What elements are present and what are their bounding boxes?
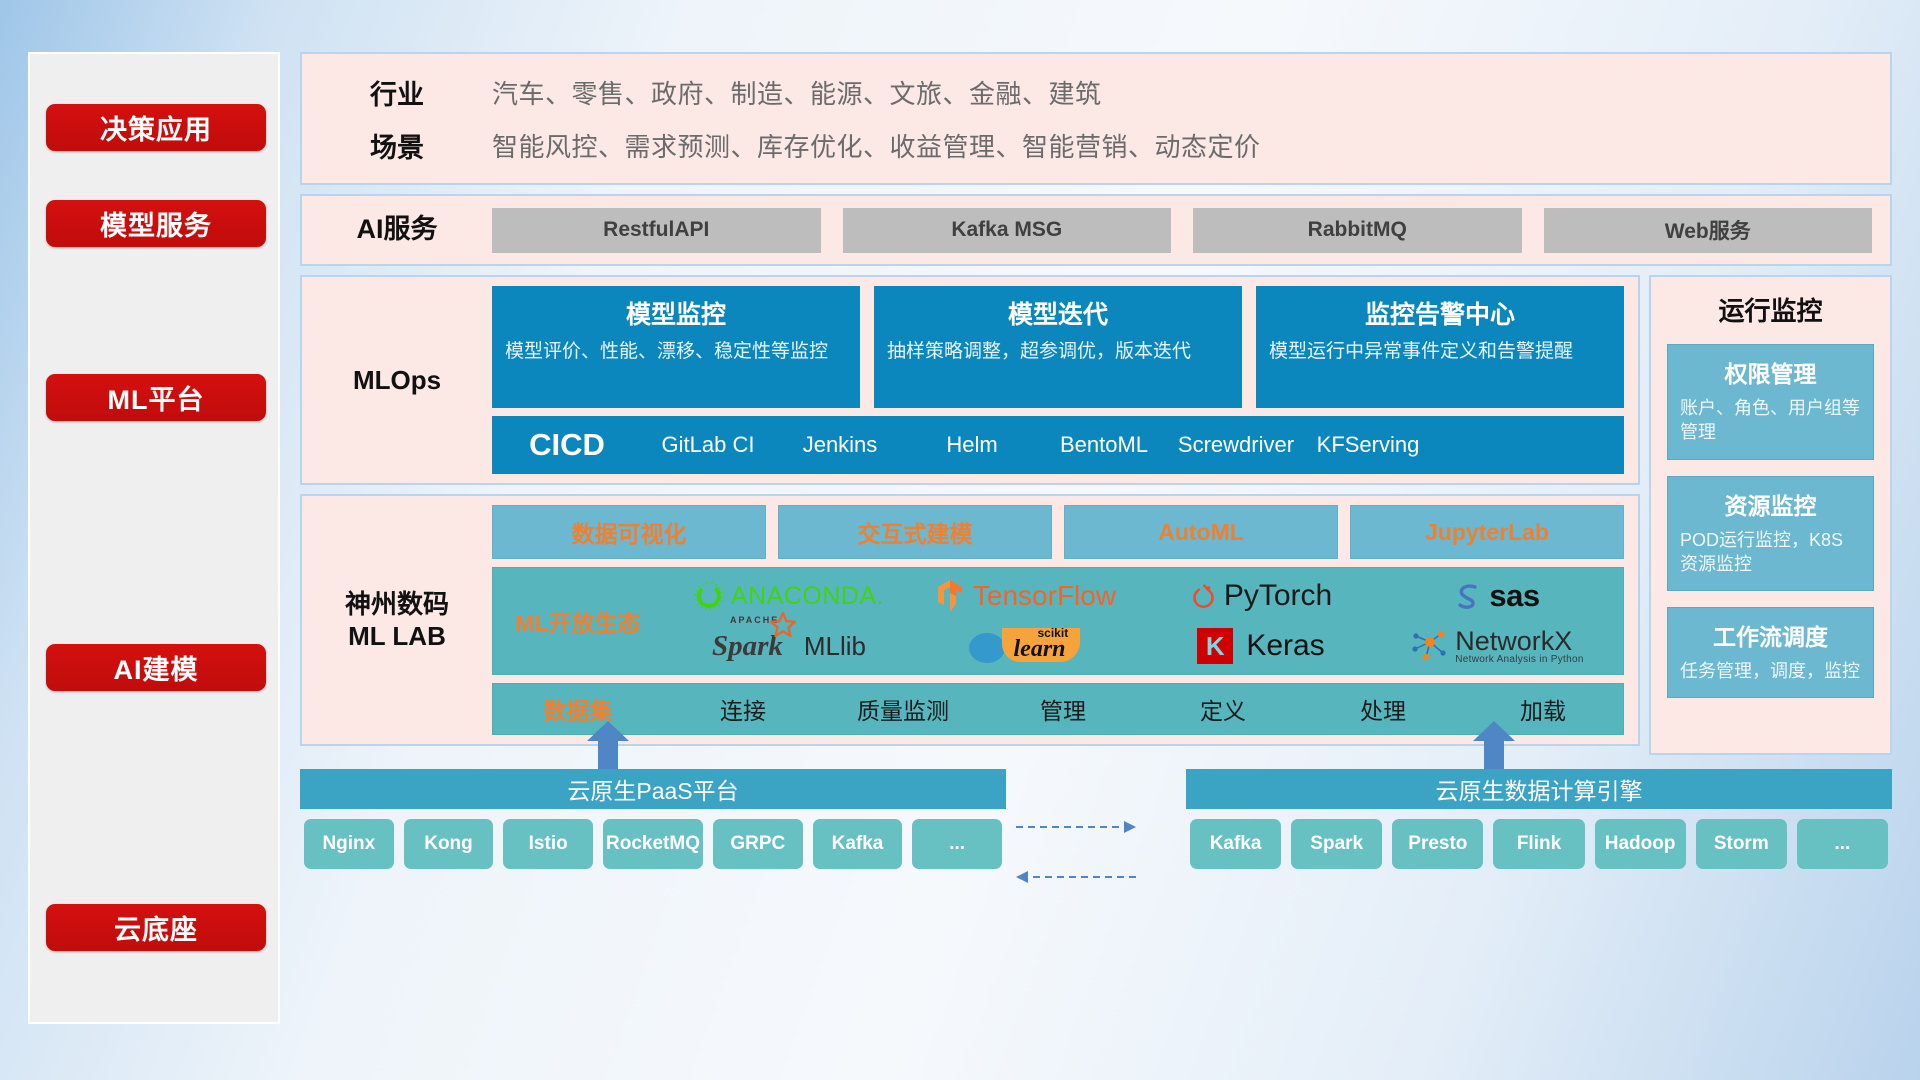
paas-title: 云原生PaaS平台 [300,769,1006,809]
keras-wordmark: Keras [1246,629,1324,663]
cicd-bar: CICD GitLab CI Jenkins Helm BentoML Scre… [492,416,1624,474]
card-desc: 模型评价、性能、漂移、稳定性等监控 [505,339,847,364]
paas-tile-grpc[interactable]: GRPC [713,819,803,869]
runtime-monitor-title: 运行监控 [1667,291,1874,328]
stage-label: ML平台 [108,378,205,417]
data-engine-column: 云原生数据计算引擎 Kafka Spark Presto Flink Hadoo… [1186,769,1892,869]
engine-tile-flink[interactable]: Flink [1493,819,1584,869]
platform-section: MLOps 模型监控 模型评价、性能、漂移、稳定性等监控 模型迭代 抽样策略调整… [300,275,1892,755]
dataset-item-define[interactable]: 定义 [1143,692,1303,726]
service-chip-kafka-msg[interactable]: Kafka MSG [843,208,1172,253]
paas-up-arrow-icon [586,721,630,769]
learn-wordmark: learn [1014,636,1066,663]
cicd-tool-bentoml[interactable]: BentoML [1038,434,1170,456]
service-chip-web[interactable]: Web服务 [1544,208,1873,253]
paas-tile-kafka[interactable]: Kafka [813,819,903,869]
engine-tile-storm[interactable]: Storm [1696,819,1787,869]
cloud-foundation-section: 云原生PaaS平台 Nginx Kong Istio RocketMQ GRPC… [300,769,1892,869]
industry-key: 行业 [302,73,492,112]
ml-ecosystem-label: ML开放生态 [493,568,663,674]
networkx-logo: NetworkX Network Analysis in Python [1410,628,1583,665]
mlops-card-alert-center[interactable]: 监控告警中心 模型运行中异常事件定义和告警提醒 [1256,286,1624,408]
card-title: 模型迭代 [887,295,1229,331]
card-desc: 账户、角色、用户组等管理 [1680,396,1861,445]
cloud-link-arrows [1006,769,1186,869]
mlops-label: MLOps [302,277,492,483]
anaconda-logo: ANACONDA. [694,581,884,611]
industry-row: 行业 汽车、零售、政府、制造、能源、文旅、金融、建筑 [302,73,1890,112]
sas-logo: sas [1454,578,1539,614]
ml-lab-label-line2: ML LAB [348,620,446,653]
anaconda-mark-icon [694,581,724,611]
dataset-item-manage[interactable]: 管理 [983,692,1143,726]
dataset-bar: 数据集 连接 质量监测 管理 定义 处理 加载 [492,683,1624,735]
card-title: 监控告警中心 [1269,295,1611,331]
anaconda-wordmark: ANACONDA. [731,582,884,611]
industry-value: 汽车、零售、政府、制造、能源、文旅、金融、建筑 [492,74,1102,111]
cicd-tool-gitlab-ci[interactable]: GitLab CI [642,434,774,456]
stage-chip-model-service[interactable]: 模型服务 [46,200,266,247]
service-chip-label: Kafka MSG [951,218,1062,242]
service-chip-label: RabbitMQ [1308,218,1407,242]
bidirectional-dashed-arrows [1006,805,1186,915]
stage-rail: 决策应用 模型服务 ML平台 AI建模 云底座 [28,52,280,1024]
lab-tab-interactive-modeling[interactable]: 交互式建模 [778,505,1052,559]
mllib-wordmark: MLlib [804,631,866,662]
pytorch-wordmark: PyTorch [1224,579,1332,613]
engine-tile-hadoop[interactable]: Hadoop [1595,819,1686,869]
data-engine-up-arrow-icon [1472,721,1516,769]
stage-label: 模型服务 [100,204,212,243]
pytorch-flame-icon [1190,581,1217,611]
ml-lab-label-line1: 神州数码 [345,588,449,621]
mlops-band: MLOps 模型监控 模型评价、性能、漂移、稳定性等监控 模型迭代 抽样策略调整… [300,275,1640,485]
card-desc: 抽样策略调整，超参调优，版本迭代 [887,339,1229,364]
pytorch-logo: PyTorch [1190,579,1332,613]
monitor-card-workflow[interactable]: 工作流调度 任务管理，调度，监控 [1667,607,1874,698]
networkx-wordmark: NetworkX [1455,628,1583,655]
engine-tile-presto[interactable]: Presto [1392,819,1483,869]
runtime-monitor-column: 运行监控 权限管理 账户、角色、用户组等管理 资源监控 POD运行监控，K8S资… [1649,275,1892,755]
paas-tile-nginx[interactable]: Nginx [304,819,394,869]
keras-logo: K Keras [1197,628,1324,664]
dataset-label: 数据集 [493,692,663,726]
tensorflow-logo: TensorFlow [934,579,1116,613]
stage-chip-ml-platform[interactable]: ML平台 [46,374,266,421]
card-desc: 模型运行中异常事件定义和告警提醒 [1269,339,1611,364]
lab-tab-automl[interactable]: AutoML [1064,505,1338,559]
paas-tile-rocketmq[interactable]: RocketMQ [603,819,703,869]
card-title: 资源监控 [1680,487,1861,521]
cicd-tool-screwdriver[interactable]: Screwdriver [1170,434,1302,456]
ai-service-band: AI服务 RestfulAPI Kafka MSG RabbitMQ Web服务 [300,194,1892,266]
engine-tile-kafka[interactable]: Kafka [1190,819,1281,869]
lab-tab-jupyterlab[interactable]: JupyterLab [1350,505,1624,559]
decision-apps-band: 行业 汽车、零售、政府、制造、能源、文旅、金融、建筑 场景 智能风控、需求预测、… [300,52,1892,185]
scenario-key: 场景 [302,126,492,165]
ml-ecosystem-row: ML开放生态 ANACONDA. [492,567,1624,675]
stage-label: 云底座 [114,908,198,947]
networkx-tagline: Network Analysis in Python [1455,655,1583,665]
ml-lab-band: 神州数码 ML LAB 数据可视化 交互式建模 AutoML JupyterLa… [300,494,1640,746]
keras-mark-icon: K [1197,628,1233,664]
dataset-item-process[interactable]: 处理 [1303,692,1463,726]
tensorflow-mark-icon [934,579,966,613]
cicd-tool-helm[interactable]: Helm [906,434,1038,456]
card-title: 工作流调度 [1680,618,1861,652]
scikit-orange-blob: scikit learn [998,624,1084,669]
ai-service-label: AI服务 [302,196,492,264]
stage-chip-cloud-base[interactable]: 云底座 [46,904,266,951]
tensorflow-wordmark: TensorFlow [973,580,1116,612]
stage-chip-ai-modeling[interactable]: AI建模 [46,644,266,691]
paas-tile-istio[interactable]: Istio [503,819,593,869]
mlops-card-model-iteration[interactable]: 模型迭代 抽样策略调整，超参调优，版本迭代 [874,286,1242,408]
paas-tile-kong[interactable]: Kong [404,819,494,869]
service-chip-label: Web服务 [1665,215,1751,245]
cicd-tool-jenkins[interactable]: Jenkins [774,434,906,456]
engine-tile-more[interactable]: ... [1797,819,1888,869]
sas-mark-icon [1454,581,1482,611]
networkx-graph-icon [1410,629,1448,663]
ml-lab-label: 神州数码 ML LAB [302,496,492,744]
engine-tile-spark[interactable]: Spark [1291,819,1382,869]
platform-main-column: MLOps 模型监控 模型评价、性能、漂移、稳定性等监控 模型迭代 抽样策略调整… [300,275,1640,755]
paas-tile-more[interactable]: ... [912,819,1002,869]
scenario-value: 智能风控、需求预测、库存优化、收益管理、智能营销、动态定价 [492,127,1261,164]
monitor-card-permission[interactable]: 权限管理 账户、角色、用户组等管理 [1667,344,1874,460]
service-chip-label: RestfulAPI [603,218,709,242]
stage-chip-decision[interactable]: 决策应用 [46,104,266,151]
spark-star-icon [770,612,796,638]
data-engine-title: 云原生数据计算引擎 [1186,769,1892,809]
mlops-card-model-monitoring[interactable]: 模型监控 模型评价、性能、漂移、稳定性等监控 [492,286,860,408]
monitor-card-resource[interactable]: 资源监控 POD运行监控，K8S资源监控 [1667,476,1874,592]
architecture-board: 行业 汽车、零售、政府、制造、能源、文旅、金融、建筑 场景 智能风控、需求预测、… [300,52,1892,869]
card-title: 模型监控 [505,295,847,331]
service-chip-restfulapi[interactable]: RestfulAPI [492,208,821,253]
lab-tab-data-visualization[interactable]: 数据可视化 [492,505,766,559]
scikit-learn-logo: scikit learn [967,624,1084,669]
cicd-label: CICD [492,427,642,463]
scenario-row: 场景 智能风控、需求预测、库存优化、收益管理、智能营销、动态定价 [302,126,1890,165]
card-desc: POD运行监控，K8S资源监控 [1680,528,1861,577]
cicd-tool-kfserving[interactable]: KFServing [1302,434,1434,456]
sas-wordmark: sas [1489,578,1539,614]
dataset-item-connect[interactable]: 连接 [663,692,823,726]
spark-mark: APACHE Spark [712,630,783,663]
paas-column: 云原生PaaS平台 Nginx Kong Istio RocketMQ GRPC… [300,769,1006,869]
spark-mllib-logo: APACHE Spark MLlib [712,630,866,663]
stage-label: AI建模 [114,648,199,687]
card-desc: 任务管理，调度，监控 [1680,659,1861,683]
networkx-text: NetworkX Network Analysis in Python [1455,628,1583,665]
stage-label: 决策应用 [100,108,212,147]
card-title: 权限管理 [1680,355,1861,389]
dataset-item-quality-monitor[interactable]: 质量监测 [823,692,983,726]
service-chip-rabbitmq[interactable]: RabbitMQ [1193,208,1522,253]
